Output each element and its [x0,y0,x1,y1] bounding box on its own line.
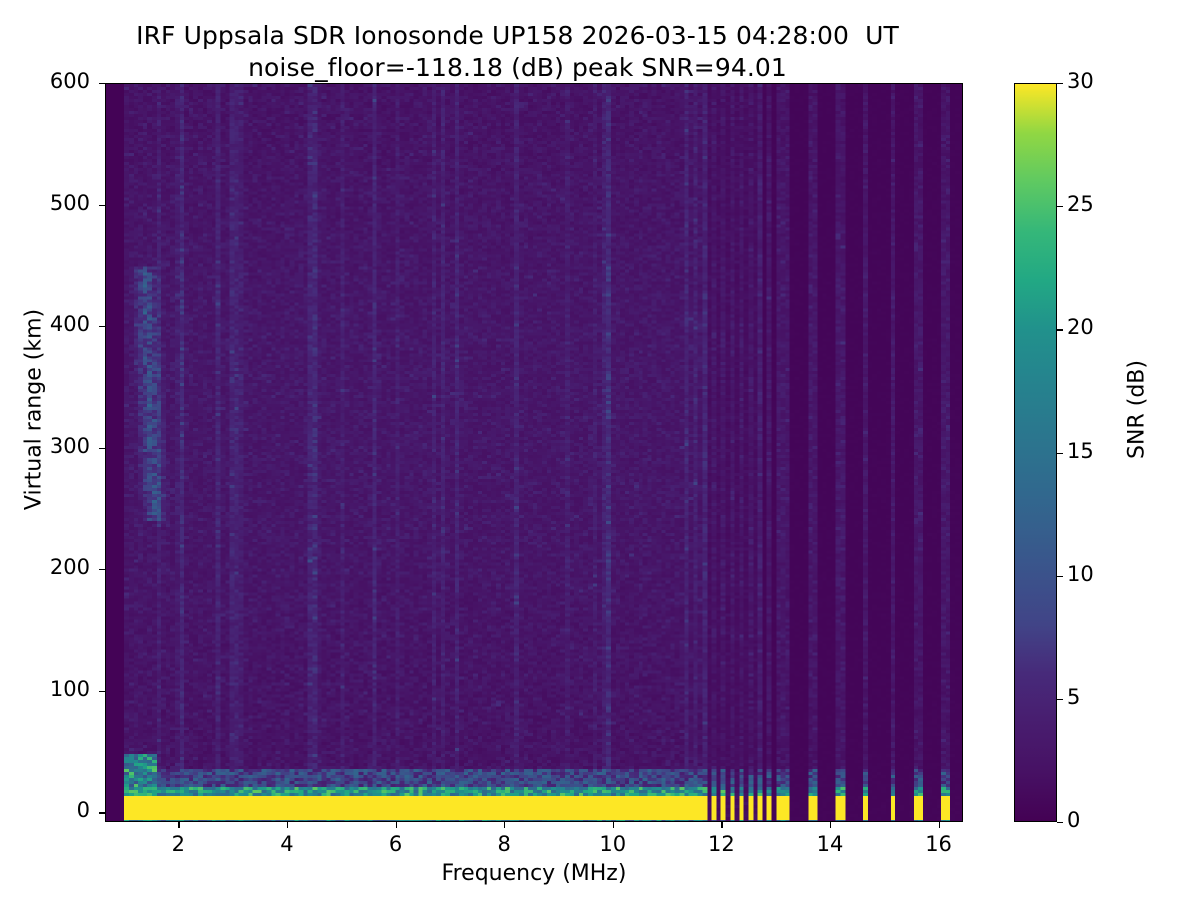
y-tick [99,448,105,449]
x-tick [178,822,179,828]
ionogram-figure: IRF Uppsala SDR Ionosonde UP158 2026-03-… [0,0,1200,900]
y-tick [99,83,105,84]
colorbar-tick [1057,206,1063,207]
x-tick [287,822,288,828]
colorbar-label: SNR (dB) [1125,280,1150,540]
colorbar-tick-label: 10 [1067,562,1094,586]
colorbar-tick-label: 30 [1067,69,1094,93]
ionogram-plot-area [105,83,963,822]
x-tick-label: 8 [474,832,534,856]
x-tick-label: 10 [583,832,643,856]
x-tick [721,822,722,828]
colorbar-tick [1057,699,1063,700]
y-tick-label: 200 [20,555,90,579]
colorbar-tick [1057,329,1063,330]
colorbar-tick [1057,453,1063,454]
y-axis-label: Virtual range (km) [22,280,47,540]
y-tick-label: 100 [20,677,90,701]
title-line-1: IRF Uppsala SDR Ionosonde UP158 2026-03-… [0,20,1035,52]
colorbar-tick-label: 5 [1067,685,1080,709]
colorbar-tick [1057,576,1063,577]
title-line-2: noise_floor=-118.18 (dB) peak SNR=94.01 [0,52,1035,84]
x-axis-label: Frequency (MHz) [105,861,963,886]
ionogram-heatmap-canvas [106,84,962,821]
y-tick-label: 600 [20,69,90,93]
colorbar-tick [1057,83,1063,84]
y-tick [99,812,105,813]
x-tick-label: 2 [148,832,208,856]
x-tick-label: 4 [257,832,317,856]
x-tick [939,822,940,828]
y-tick-label: 0 [20,798,90,822]
x-tick-label: 16 [909,832,969,856]
x-tick [830,822,831,828]
x-tick [504,822,505,828]
colorbar-tick-label: 15 [1067,439,1094,463]
colorbar [1014,83,1057,822]
y-tick-label: 500 [20,191,90,215]
colorbar-tick-label: 20 [1067,315,1094,339]
x-tick-label: 6 [366,832,426,856]
x-tick [613,822,614,828]
colorbar-tick [1057,822,1063,823]
colorbar-tick-label: 25 [1067,192,1094,216]
y-tick [99,205,105,206]
x-tick-label: 14 [800,832,860,856]
figure-title: IRF Uppsala SDR Ionosonde UP158 2026-03-… [0,20,1035,84]
x-tick-label: 12 [691,832,751,856]
colorbar-tick-label: 0 [1067,808,1080,832]
y-tick [99,691,105,692]
y-tick [99,569,105,570]
y-tick [99,326,105,327]
x-tick [396,822,397,828]
